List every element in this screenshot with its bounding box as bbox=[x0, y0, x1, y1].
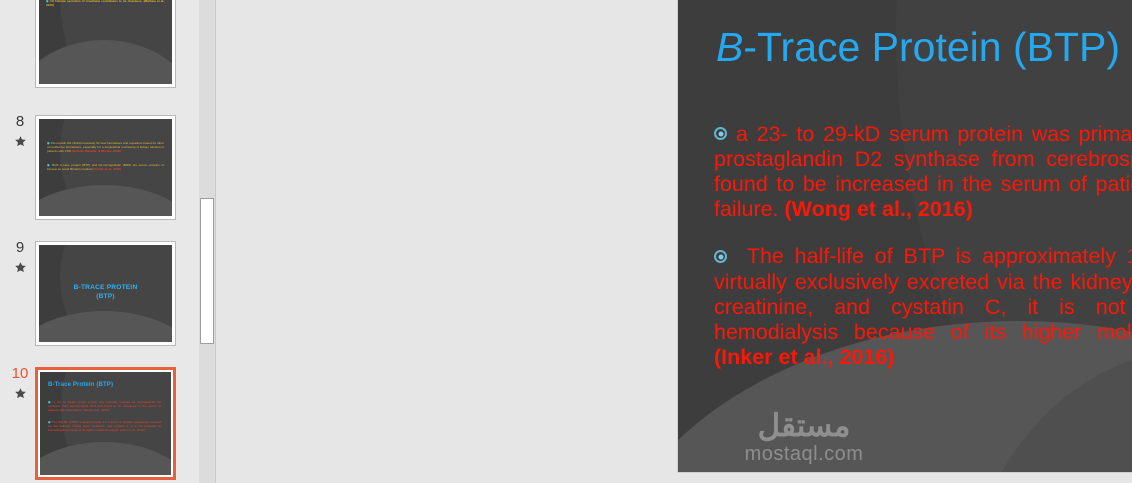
thumb-citation: (Foster et al., 2016) bbox=[93, 167, 121, 171]
thumb-text: (BTP) bbox=[39, 292, 172, 301]
thumbnail-frame[interactable]: B-Trace Protein (BTP) ◉ a 23- to 29-kD s… bbox=[35, 367, 176, 480]
thumbnail-scrollbar-thumb[interactable] bbox=[200, 198, 214, 344]
slide-work-area: B-Trace Protein (BTP) a 23- to 29-kD ser… bbox=[216, 0, 1132, 483]
star-icon bbox=[10, 258, 30, 276]
slide-number: 10 bbox=[8, 366, 32, 382]
slide-number: 9 bbox=[8, 240, 32, 256]
thumbnail-frame[interactable]: B-TRACE PROTEIN (BTP) bbox=[35, 241, 176, 346]
slide-content: B-Trace Protein (BTP) a 23- to 29-kD ser… bbox=[678, 0, 1132, 472]
slide-number: 8 bbox=[8, 114, 32, 130]
thumb-text: a 23- to 29-kD serum protein was primari… bbox=[48, 400, 161, 412]
thumbnail-body: ◉ Estimating Residual Kidney Function in… bbox=[46, 0, 165, 10]
thumb-text: (3) Tubular secretion of creatinine cont… bbox=[46, 0, 165, 7]
slide-title-italic: B bbox=[716, 24, 743, 70]
bullet-ring-icon bbox=[714, 250, 727, 263]
slide-thumbnail-pane[interactable]: ◉ Estimating Residual Kidney Function in… bbox=[0, 0, 199, 483]
current-slide[interactable]: B-Trace Protein (BTP) a 23- to 29-kD ser… bbox=[678, 0, 1132, 472]
bullet-ring-icon bbox=[714, 127, 727, 140]
star-icon bbox=[10, 384, 30, 402]
slide-body[interactable]: a 23- to 29-kD serum protein was primari… bbox=[714, 100, 1132, 370]
thumbnail-section-title: B-TRACE PROTEIN (BTP) bbox=[39, 283, 172, 301]
slide-title[interactable]: B-Trace Protein (BTP) bbox=[716, 22, 1120, 72]
watermark-latin: mostaql.com bbox=[716, 443, 892, 466]
thumb-text: The half-life of BTP is approximately 1.… bbox=[48, 420, 161, 432]
bullet-text: The half-life of BTP is approximately 1.… bbox=[714, 244, 1132, 344]
thumb-text: B-TRACE PROTEIN bbox=[39, 283, 172, 292]
thumbnail-preview: B-TRACE PROTEIN (BTP) bbox=[39, 245, 172, 342]
slide-title-rest: -Trace Protein (BTP) bbox=[743, 24, 1120, 70]
bullet-citation: (Wong et al., 2016) bbox=[785, 197, 973, 221]
bullet-paragraph: The half-life of BTP is approximately 1.… bbox=[714, 244, 1132, 370]
thumbnail-preview: ◉ Estimating Residual Kidney Function in… bbox=[39, 0, 172, 84]
watermark: مستقل mostaql.com bbox=[716, 409, 892, 466]
thumbnail-body: ◉ a 23- to 29-kD serum protein was prima… bbox=[48, 400, 161, 435]
presentation-editor: ◉ Estimating Residual Kidney Function in… bbox=[0, 0, 1132, 483]
thumbnail-preview: B-Trace Protein (BTP) ◉ a 23- to 29-kD s… bbox=[40, 372, 171, 475]
bullet-paragraph: a 23- to 29-kD serum protein was primari… bbox=[714, 122, 1132, 223]
watermark-arabic: مستقل bbox=[716, 409, 892, 443]
thumbnail-frame[interactable]: ◉ this explain the clinical necessity fo… bbox=[35, 115, 176, 220]
star-icon bbox=[10, 132, 30, 150]
thumb-citation: (Schrob, Marwitz, & Woitas, 2018) bbox=[72, 149, 121, 153]
thumbnail-frame[interactable]: ◉ Estimating Residual Kidney Function in… bbox=[35, 0, 176, 88]
thumbnail-title: B-Trace Protein (BTP) bbox=[48, 381, 113, 389]
thumbnail-body: ◉ this explain the clinical necessity fo… bbox=[47, 141, 164, 174]
thumbnail-preview: ◉ this explain the clinical necessity fo… bbox=[39, 119, 172, 216]
bullet-citation: (Inker et al., 2016) bbox=[714, 345, 894, 369]
